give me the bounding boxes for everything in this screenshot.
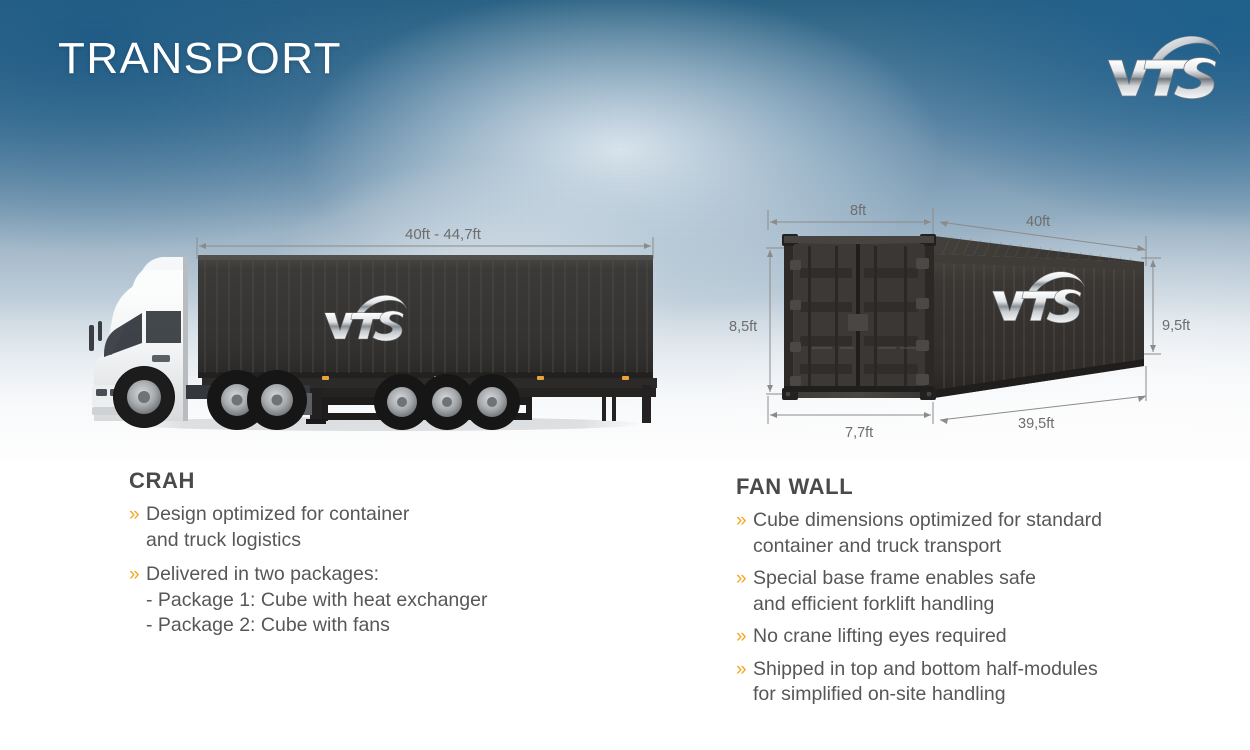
container-right-height-label: 9,5ft	[1162, 318, 1190, 334]
list-item-text: Cube dimensions optimized for standard c…	[753, 508, 1102, 559]
list-item-text: Shipped in top and bottom half-modules f…	[753, 657, 1098, 708]
truck-illustration	[82, 225, 672, 440]
list-item-text: Design optimized for container and truck…	[146, 502, 409, 553]
list-item: » No crane lifting eyes required	[736, 624, 1236, 650]
container-illustration	[728, 196, 1206, 446]
list-item: » Special base frame enables safe and ef…	[736, 566, 1236, 617]
container-bottom-width-label: 7,7ft	[845, 425, 873, 441]
list-item: » Delivered in two packages: - Package 1…	[129, 562, 689, 639]
chevron-bullet-icon: »	[736, 657, 753, 682]
chevron-bullet-icon: »	[736, 508, 753, 533]
container-top-length-label: 40ft	[1026, 214, 1050, 230]
fan-wall-bullet-list: » Cube dimensions optimized for standard…	[736, 508, 1236, 708]
container-left-height-label: 8,5ft	[729, 319, 757, 335]
container-top-width-label: 8ft	[850, 203, 866, 219]
list-item: » Shipped in top and bottom half-modules…	[736, 657, 1236, 708]
page-title: TRANSPORT	[58, 34, 342, 84]
list-item: » Cube dimensions optimized for standard…	[736, 508, 1236, 559]
container-bottom-length-label: 39,5ft	[1018, 416, 1054, 432]
chevron-bullet-icon: »	[129, 562, 146, 587]
fan-wall-heading: FAN WALL	[736, 474, 1236, 500]
chevron-bullet-icon: »	[736, 624, 753, 649]
list-item: » Design optimized for container and tru…	[129, 502, 689, 553]
list-item-text: No crane lifting eyes required	[753, 624, 1007, 650]
list-item-subtext: - Package 1: Cube with heat exchanger - …	[129, 588, 487, 639]
fan-wall-column: FAN WALL » Cube dimensions optimized for…	[736, 474, 1236, 715]
slide-root: TRANSPORT	[0, 0, 1250, 750]
crah-column: CRAH » Design optimized for container an…	[129, 468, 689, 648]
chevron-bullet-icon: »	[129, 502, 146, 527]
list-item-text: Delivered in two packages:	[146, 562, 379, 588]
vts-logo-icon	[1088, 22, 1228, 104]
crah-heading: CRAH	[129, 468, 689, 494]
list-item-text: Special base frame enables safe and effi…	[753, 566, 1036, 617]
crah-bullet-list: » Design optimized for container and tru…	[129, 502, 689, 639]
truck-length-dimension-label: 40ft - 44,7ft	[405, 226, 481, 243]
chevron-bullet-icon: »	[736, 566, 753, 591]
